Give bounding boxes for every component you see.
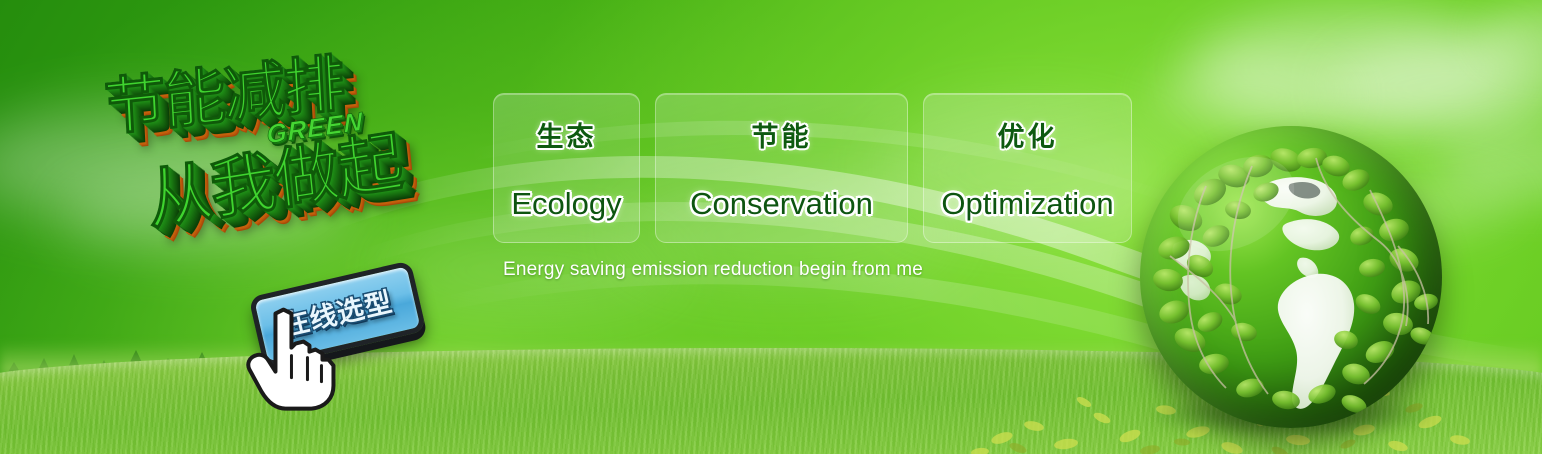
card-title-cn: 优化	[998, 115, 1058, 154]
globe-sphere	[1140, 126, 1442, 428]
banner-tagline: Energy saving emission reduction begin f…	[503, 259, 923, 281]
feature-card-ecology[interactable]: 生态 Ecology	[493, 93, 640, 243]
feature-card-conservation[interactable]: 节能 Conservation	[655, 93, 908, 243]
hand-pointer-cursor-icon	[245, 308, 337, 412]
leafy-earth-globe-icon	[1140, 126, 1442, 428]
cloud-icon	[1150, 60, 1350, 130]
feature-card-row: 生态 Ecology 节能 Conservation 优化 Optimizati…	[493, 93, 1132, 243]
headline-3d-artwork: 节能减排 GREEN 从我做起	[88, 20, 504, 287]
card-title-cn: 节能	[752, 115, 812, 154]
card-title-en: Conservation	[690, 186, 873, 222]
card-title-en: Ecology	[511, 186, 621, 222]
card-title-cn: 生态	[537, 115, 597, 154]
globe-continents	[1140, 126, 1442, 428]
eco-hero-banner: 节能减排 GREEN 从我做起	[0, 0, 1542, 454]
card-title-en: Optimization	[941, 186, 1113, 222]
feature-card-optimization[interactable]: 优化 Optimization	[923, 93, 1132, 243]
